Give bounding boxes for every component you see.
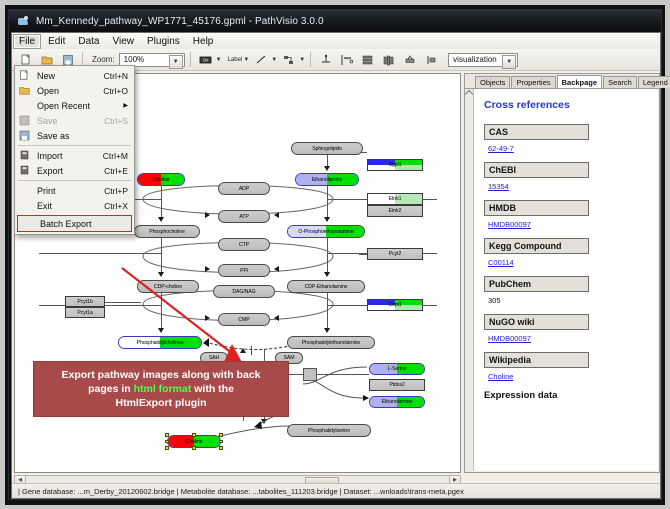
node-label: Choline [153,177,170,183]
file-menu-accelerator: Ctrl+P [104,186,128,196]
gene-label: Etnk2 [389,208,402,214]
file-menu-label: Export [37,166,63,176]
menu-plugins[interactable]: Plugins [141,34,186,49]
xref-label-cas: CAS [484,124,589,140]
line-icon[interactable] [251,50,270,69]
pathway-gene-sgpl1[interactable]: Sgpl1 [367,159,423,171]
gene-label: Pcyt1b [77,299,92,305]
file-menu-item-print[interactable]: PrintCtrl+P [15,183,134,198]
expression-data-heading: Expression data [484,390,648,401]
xref-value-kegg-compound[interactable]: C00114 [488,258,648,267]
gene-label: Pcyt1a [77,310,92,316]
side-dock-panel: Objects Properties Backpage Search Legen… [464,73,660,473]
node-label: Sphingolipids [312,146,342,152]
datanode-dropdown[interactable]: Gn ▼ [196,50,222,69]
selection-handle[interactable] [165,446,169,450]
order-icon[interactable] [421,50,440,69]
tab-backpage[interactable]: Backpage [557,75,602,89]
title-bar: Mm_Kennedy_pathway_WP1771_45176.gpml - P… [9,10,661,32]
node-label: Choline [186,439,203,445]
file-menu-item-save-as[interactable]: Save as [15,128,134,143]
pathway-node-sphingolipids[interactable]: Sphingolipids [291,142,363,155]
xref-value-nugo-wiki[interactable]: HMDB00097 [488,334,648,343]
chevron-down-icon[interactable]: ▼ [216,57,222,63]
file-menu-item-exit[interactable]: ExitCtrl+X [15,198,134,213]
file-menu-item-batch-export[interactable]: Batch Export [18,216,131,231]
file-menu-item-save: SaveCtrl+S [15,113,134,128]
backpage-content[interactable]: Cross references CAS62-49-7ChEBI15354HMD… [473,89,658,471]
gene-label: Ptdss2 [389,382,404,388]
xref-label-wikipedia: Wikipedia [484,352,589,368]
pathway-node-phosphatidylserine[interactable]: Phosphatidylserine [287,424,371,437]
pathway-node-ethanolamine_top[interactable]: Ethanolamine [295,173,359,186]
pathvisio-window: Mm_Kennedy_pathway_WP1771_45176.gpml - P… [8,9,662,500]
interaction-icon[interactable] [279,50,298,69]
menu-bar: File Edit Data View Plugins Help [12,33,660,50]
xref-label-nugo-wiki: NuGO wiki [484,314,589,330]
status-text: | Gene database: ...m_Derby_20120602.bri… [18,487,464,496]
tab-objects[interactable]: Objects [475,76,510,89]
file-menu-label: Open [37,86,59,96]
pathway-gene-cept1[interactable]: Cept1 [367,299,423,311]
xref-label-chebi: ChEBI [484,162,589,178]
gene-label: Pcyt2 [389,251,401,257]
pathway-node-atp[interactable]: ATP [218,210,270,223]
pathway-node-lserine[interactable]: L-Serine [369,363,425,375]
toolbar-separator [190,52,191,67]
pathway-node-phosphatidylethanolamine[interactable]: Phosphatidylethanolamine [287,336,375,349]
annotation-callout: Export pathway images along with back pa… [33,361,289,417]
pathway-gene-pcyt1a[interactable]: Pcyt1a [65,307,105,318]
menu-data[interactable]: Data [72,34,105,49]
node-label: Ethanolamine [382,399,413,405]
menu-help[interactable]: Help [187,34,220,49]
file-menu-item-new[interactable]: NewCtrl+N [15,68,134,83]
chevron-right-icon: ▶ [123,102,128,109]
tab-search[interactable]: Search [603,76,637,89]
callout-line2-a: pages in [88,383,134,395]
gene-label: Etnk1 [389,196,402,202]
interaction-dropdown[interactable]: ▼ [279,50,305,69]
node-label: ATP [239,214,248,220]
anchor-icon[interactable] [316,50,335,69]
xref-value-cas[interactable]: 62-49-7 [488,144,648,153]
file-menu-accelerator: Ctrl+N [104,71,128,81]
tab-properties[interactable]: Properties [511,76,555,89]
selection-handle[interactable] [219,433,223,437]
application-body: File Edit Data View Plugins Help Z [11,32,661,499]
file-menu-accelerator: Ctrl+O [103,86,128,96]
chevron-down-icon[interactable]: ▼ [502,55,516,69]
pathway-node-phosphocholine[interactable]: Phosphocholine [134,225,200,238]
pathway-node-adp[interactable]: ADP [218,182,270,195]
selection-handle[interactable] [165,440,169,444]
tab-legend[interactable]: Legend [638,76,670,89]
selection-handle[interactable] [219,440,223,444]
menu-view[interactable]: View [106,34,140,49]
file-menu-item-open[interactable]: OpenCtrl+O [15,83,134,98]
pathway-node-ctp[interactable]: CTP [218,238,270,251]
file-menu-item-export[interactable]: ExportCtrl+E [15,163,134,178]
desktop-background: Mm_Kennedy_pathway_WP1771_45176.gpml - P… [0,0,670,509]
visualization-value: visualization [453,55,497,64]
menu-file[interactable]: File [13,34,41,49]
new-file-icon [19,70,30,81]
label-dropdown-text: Label [228,57,243,63]
file-menu-label: Batch Export [40,219,92,229]
file-menu-label: Save as [37,131,70,141]
file-menu-accelerator: Ctrl+S [104,116,128,126]
import-icon [19,150,30,161]
chevron-down-icon[interactable]: ▼ [243,57,249,63]
callout-line3: HtmlExport plugin [116,397,207,409]
align-stack-icon[interactable] [358,50,377,69]
selection-handle[interactable] [192,433,196,437]
gene-label: Cept1 [388,302,401,308]
label-dropdown[interactable]: Label ▼ [224,57,250,63]
menu-edit[interactable]: Edit [42,34,71,49]
export-icon [19,165,30,176]
save-as-icon [19,130,30,141]
window-title: Mm_Kennedy_pathway_WP1771_45176.gpml - P… [36,16,324,27]
dock-tab-strip: Objects Properties Backpage Search Legen… [465,74,659,89]
file-menu-label: Exit [37,201,52,211]
callout-highlight: html format [134,383,192,395]
node-label: O-Phosphoethanolamine [298,229,353,235]
chevron-down-icon[interactable]: ▼ [299,57,305,63]
cross-reference-list: CAS62-49-7ChEBI15354HMDBHMDB00097Kegg Co… [484,124,648,381]
cross-references-heading: Cross references [484,99,648,111]
pathway-node-ethanolamine_low[interactable]: Ethanolamine [369,396,425,408]
xref-label-hmdb: HMDB [484,200,589,216]
pathway-gene-etnk2[interactable]: Etnk2 [367,205,423,217]
node-label: Phosphatidylserine [308,428,350,434]
file-menu-accelerator: Ctrl+X [104,201,128,211]
gene-label: Sgpl1 [389,162,402,168]
pathway-node-ophosphoethanolamine[interactable]: O-Phosphoethanolamine [287,225,365,238]
xref-label-pubchem: PubChem [484,276,589,292]
status-bar: | Gene database: ...m_Derby_20120602.bri… [12,483,660,498]
visualization-combobox[interactable]: visualization ▼ [448,53,518,67]
line-dropdown[interactable]: ▼ [251,50,277,69]
file-menu-dropdown[interactable]: NewCtrl+NOpenCtrl+OOpen Recent▶SaveCtrl+… [14,65,135,235]
pathway-gene-pcyt2[interactable]: Pcyt2 [367,248,423,260]
file-menu-accelerator: Ctrl+M [103,151,128,161]
xref-label-kegg-compound: Kegg Compound [484,238,589,254]
xref-value-pubchem: 305 [488,296,648,305]
pathway-gene-ptdss2[interactable]: Ptdss2 [369,379,425,391]
pathvisio-app-icon [17,15,30,28]
selection-handle[interactable] [165,433,169,437]
pathway-gene-pcyt1b[interactable]: Pcyt1b [65,296,105,307]
node-label: L-Serine [388,366,407,372]
node-label: Phosphocholine [149,229,185,235]
zoom-value: 100% [124,55,144,64]
menu-separator [18,180,131,181]
callout-line2-b: with the [191,383,234,395]
xref-value-chebi[interactable]: 15354 [488,182,648,191]
chevron-down-icon[interactable]: ▼ [271,57,277,63]
toolbar-separator [310,52,311,67]
batch-export-highlight: Batch Export [17,215,132,232]
file-menu-item-open-recent[interactable]: Open Recent▶ [15,98,134,113]
save-icon [19,115,30,126]
file-menu-label: Save [37,116,58,126]
file-menu-label: Import [37,151,63,161]
selection-handle[interactable] [219,446,223,450]
xref-value-hmdb[interactable]: HMDB00097 [488,220,648,229]
file-menu-accelerator: Ctrl+E [104,166,128,176]
align-left-icon[interactable] [337,50,356,69]
node-label: CTP [239,242,249,248]
group-icon[interactable] [400,50,419,69]
pathway-gene-etnk1[interactable]: Etnk1 [367,193,423,205]
node-label: CDP-Ethanolamine [305,284,348,290]
chevron-down-icon[interactable]: ▼ [169,55,183,69]
zoom-label: Zoom: [92,55,115,64]
node-label: Phosphatidylethanolamine [302,340,360,346]
pathway-node-choline_top[interactable]: Choline [137,173,185,186]
menu-separator [18,145,131,146]
collapse-arrow-icon [465,90,473,98]
align-center-icon[interactable] [379,50,398,69]
file-menu-label: Open Recent [37,101,90,111]
red-pointer-arrow [120,266,270,376]
file-menu-label: New [37,71,55,81]
xref-value-wikipedia[interactable]: Choline [488,372,648,381]
open-folder-icon [19,85,30,96]
file-menu-label: Print [37,186,56,196]
datanode-icon[interactable]: Gn [196,50,215,69]
node-label: ADP [239,186,249,192]
node-label: Ethanolamine [312,177,343,183]
selection-handle[interactable] [192,446,196,450]
pathway-node-cdp_ethanolamine[interactable]: CDP-Ethanolamine [287,280,365,293]
file-menu-item-import[interactable]: ImportCtrl+M [15,148,134,163]
callout-line1: Export pathway images along with back [62,369,261,381]
svg-text:Gn: Gn [202,57,208,62]
